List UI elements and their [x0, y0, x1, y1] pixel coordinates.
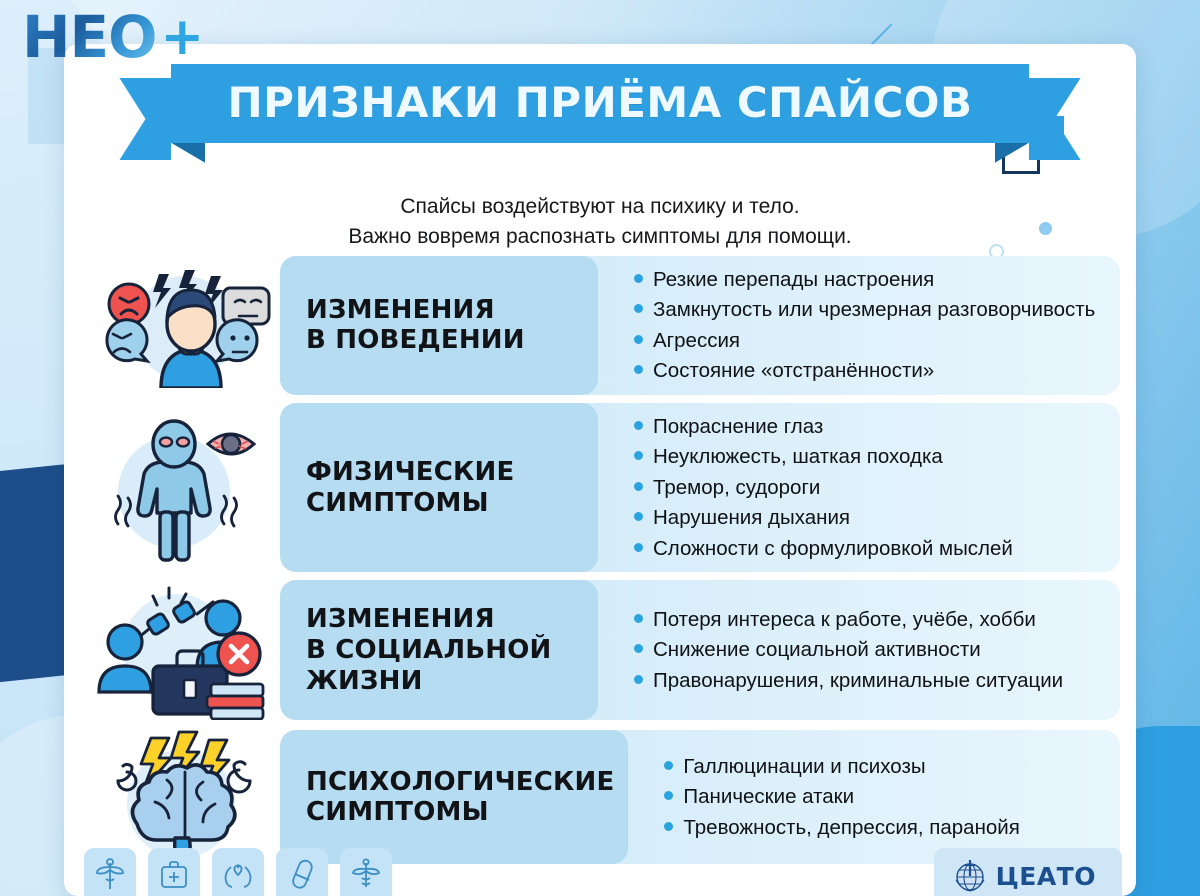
footer-brand: ЦЕАТО	[934, 848, 1122, 896]
section-icon-social	[84, 580, 280, 720]
footer-icon-heart-in-hands	[212, 848, 264, 896]
list-item: Тремор, судороги	[634, 474, 1100, 501]
list-item: Агрессия	[634, 327, 1100, 354]
poster-card: ПРИЗНАКИ ПРИЁМА СПАЙСОВ Спайсы воздейств…	[64, 44, 1136, 896]
footer-icon-first-aid-kit	[148, 848, 200, 896]
title-ribbon: ПРИЗНАКИ ПРИЁМА СПАЙСОВ	[64, 64, 1136, 143]
list-item: Тревожность, депрессия, паранойя	[664, 814, 1100, 841]
heart-in-hands-icon	[222, 859, 254, 889]
page-title: ПРИЗНАКИ ПРИЁМА СПАЙСОВ	[227, 78, 972, 127]
bullet-dot-icon	[634, 335, 643, 344]
bullet-dot-icon	[634, 365, 643, 374]
list-item-text: Замкнутость или чрезмерная разговорчивос…	[653, 296, 1095, 323]
section-row: ИЗМЕНЕНИЯ В СОЦИАЛЬНОЙ ЖИЗНИ Потеря инте…	[84, 580, 1120, 720]
list-item: Покраснение глаз	[634, 413, 1100, 440]
section-label-line-2: В СОЦИАЛЬНОЙ	[306, 635, 552, 665]
capsule-pill-icon	[288, 858, 316, 890]
list-item-text: Галлюцинации и психозы	[683, 753, 925, 780]
bullet-dot-icon	[664, 791, 673, 800]
section-label-line-1: ИЗМЕНЕНИЯ	[306, 604, 495, 634]
bullet-dot-icon	[634, 543, 643, 552]
infographic-page: HEO + ПРИЗНАКИ ПРИЁМА СПАЙСОВ Спайсы воз…	[0, 0, 1200, 896]
section-bullet-list: Потеря интереса к работе, учёбе, хобби С…	[598, 580, 1120, 720]
bullet-dot-icon	[634, 274, 643, 283]
section-label-line-1: ПСИХОЛОГИЧЕСКИЕ	[306, 767, 614, 797]
section-row: ИЗМЕНЕНИЯ В ПОВЕДЕНИИ Резкие перепады на…	[84, 256, 1120, 395]
section-label-line-1: ИЗМЕНЕНИЯ	[306, 295, 495, 325]
subtitle-line-1: Спайсы воздействуют на психику и тело.	[64, 192, 1136, 222]
list-item: Снижение социальной активности	[634, 636, 1100, 663]
list-item: Сложности с формулировкой мыслей	[634, 535, 1100, 562]
list-item: Нарушения дыхания	[634, 504, 1100, 531]
list-item-text: Потеря интереса к работе, учёбе, хобби	[653, 606, 1036, 633]
bullet-dot-icon	[634, 304, 643, 313]
bullet-dot-icon	[634, 421, 643, 430]
footer-icon-capsule	[276, 848, 328, 896]
list-item: Потеря интереса к работе, учёбе, хобби	[634, 606, 1100, 633]
list-item-text: Правонарушения, криминальные ситуации	[653, 667, 1063, 694]
footer-icon-strip	[84, 848, 392, 896]
list-item: Резкие перепады настроения	[634, 266, 1100, 293]
ribbon-fold-left	[171, 143, 205, 163]
section-label-line-1: ФИЗИЧЕСКИЕ	[306, 457, 514, 487]
section-label: ИЗМЕНЕНИЯ В ПОВЕДЕНИИ	[280, 256, 598, 395]
section-row: ФИЗИЧЕСКИЕ СИМПТОМЫ Покраснение глаз Неу…	[84, 403, 1120, 572]
section-icon-behaviour	[84, 262, 280, 388]
list-item-text: Панические атаки	[683, 783, 854, 810]
list-item-text: Сложности с формулировкой мыслей	[653, 535, 1013, 562]
list-item-text: Состояние «отстранённости»	[653, 357, 934, 384]
ribbon-tail-right	[1029, 78, 1081, 160]
section-bullet-list: Покраснение глаз Неуклюжесть, шаткая пох…	[598, 403, 1120, 572]
list-item: Замкнутость или чрезмерная разговорчивос…	[634, 296, 1100, 323]
list-item-text: Неуклюжесть, шаткая походка	[653, 443, 943, 470]
section-label: ИЗМЕНЕНИЯ В СОЦИАЛЬНОЙ ЖИЗНИ	[280, 580, 598, 720]
bullet-dot-icon	[634, 614, 643, 623]
section-label-line-3: ЖИЗНИ	[306, 666, 423, 696]
section-icon-physical	[84, 414, 280, 562]
footer: ЦЕАТО	[64, 842, 1136, 896]
ribbon-tail-left	[119, 78, 171, 160]
symptom-sections: ИЗМЕНЕНИЯ В ПОВЕДЕНИИ Резкие перепады на…	[64, 256, 1136, 874]
list-item-text: Тревожность, депрессия, паранойя	[683, 814, 1019, 841]
bullet-dot-icon	[664, 761, 673, 770]
angry-person-mood-swings-icon	[93, 262, 271, 388]
list-item-text: Нарушения дыхания	[653, 504, 850, 531]
bullet-dot-icon	[634, 644, 643, 653]
caduceus-icon	[95, 857, 125, 891]
list-item: Панические атаки	[664, 783, 1100, 810]
logo-text: HEO	[22, 8, 156, 66]
section-bullet-list: Резкие перепады настроения Замкнутость и…	[598, 256, 1120, 395]
broken-social-connection-briefcase-icon	[93, 580, 271, 720]
neo-plus-logo: HEO +	[22, 8, 204, 66]
subtitle: Спайсы воздействуют на психику и тело. В…	[64, 192, 1136, 252]
who-emblem-icon	[952, 858, 988, 894]
section-label-line-2: СИМПТОМЫ	[306, 797, 489, 827]
section-label-line-2: В ПОВЕДЕНИИ	[306, 325, 525, 355]
section-label: ФИЗИЧЕСКИЕ СИМПТОМЫ	[280, 403, 598, 572]
section-content: ИЗМЕНЕНИЯ В СОЦИАЛЬНОЙ ЖИЗНИ Потеря инте…	[280, 580, 1120, 720]
bullet-dot-icon	[634, 451, 643, 460]
list-item: Состояние «отстранённости»	[634, 357, 1100, 384]
bullet-dot-icon	[664, 822, 673, 831]
list-item-text: Покраснение глаз	[653, 413, 823, 440]
subtitle-line-2: Важно вовремя распознать симптомы для по…	[64, 222, 1136, 252]
footer-icon-caduceus-wings	[340, 848, 392, 896]
list-item: Правонарушения, криминальные ситуации	[634, 667, 1100, 694]
section-content: ИЗМЕНЕНИЯ В ПОВЕДЕНИИ Резкие перепады на…	[280, 256, 1120, 395]
section-content: ФИЗИЧЕСКИЕ СИМПТОМЫ Покраснение глаз Неу…	[280, 403, 1120, 572]
list-item-text: Снижение социальной активности	[653, 636, 981, 663]
bullet-dot-icon	[634, 512, 643, 521]
bullet-dot-icon	[634, 675, 643, 684]
list-item: Неуклюжесть, шаткая походка	[634, 443, 1100, 470]
list-item-text: Резкие перепады настроения	[653, 266, 934, 293]
section-label-line-2: СИМПТОМЫ	[306, 488, 489, 518]
footer-icon-caduceus	[84, 848, 136, 896]
footer-brand-text: ЦЕАТО	[996, 862, 1096, 891]
first-aid-kit-icon	[159, 858, 189, 890]
trembling-body-red-eye-icon	[96, 414, 268, 562]
list-item: Галлюцинации и психозы	[664, 753, 1100, 780]
bullet-dot-icon	[634, 482, 643, 491]
caduceus-wings-icon	[350, 858, 382, 890]
logo-plus-icon: +	[160, 11, 204, 63]
list-item-text: Тремор, судороги	[653, 474, 820, 501]
list-item-text: Агрессия	[653, 327, 740, 354]
